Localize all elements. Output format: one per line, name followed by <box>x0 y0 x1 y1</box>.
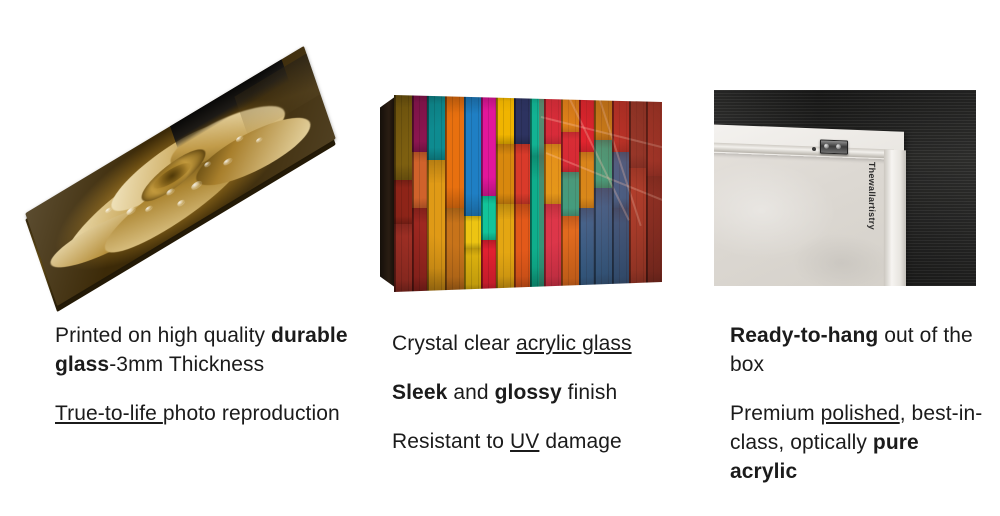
canvas-print-face <box>394 92 662 292</box>
frame-back-hanging-hardware-image: Thewallartistry <box>714 90 976 286</box>
feature-line: Premium polished, best-in-class, optical… <box>730 400 990 487</box>
bracket-pin-icon <box>812 147 816 151</box>
feature-line: Printed on high quality durable glass-3m… <box>55 322 355 380</box>
wrapped-canvas-colored-planks-image <box>380 92 664 292</box>
feature-row: Printed on high quality durable glass-3m… <box>0 0 1000 516</box>
brand-label: Thewallartistry <box>867 162 877 282</box>
feature-text-glass: Printed on high quality durable glass-3m… <box>55 322 355 429</box>
canvas-wrapped-side-edge <box>380 96 396 288</box>
frame-right-edge <box>884 150 906 286</box>
feature-line: True-to-life photo reproduction <box>55 400 355 429</box>
feature-line: Sleek and glossy finish <box>392 379 692 408</box>
feature-text-acrylic: Crystal clear acrylic glass Sleek and gl… <box>392 330 692 457</box>
feature-line: Resistant to UV damage <box>392 428 692 457</box>
glass-panel-rose-image <box>10 88 355 283</box>
feature-line: Crystal clear acrylic glass <box>392 330 692 359</box>
screw-icon <box>836 144 841 149</box>
glass-panel-face <box>25 46 336 306</box>
feature-text-ready-to-hang: Ready-to-hang out of the box Premium pol… <box>730 322 990 487</box>
frame-back-panel <box>714 153 886 286</box>
plank-pattern <box>394 92 662 292</box>
hanging-bracket-icon <box>820 139 848 154</box>
feature-line: Ready-to-hang out of the box <box>730 322 990 380</box>
glass-panel-scene <box>10 88 355 283</box>
screw-icon <box>824 144 829 149</box>
